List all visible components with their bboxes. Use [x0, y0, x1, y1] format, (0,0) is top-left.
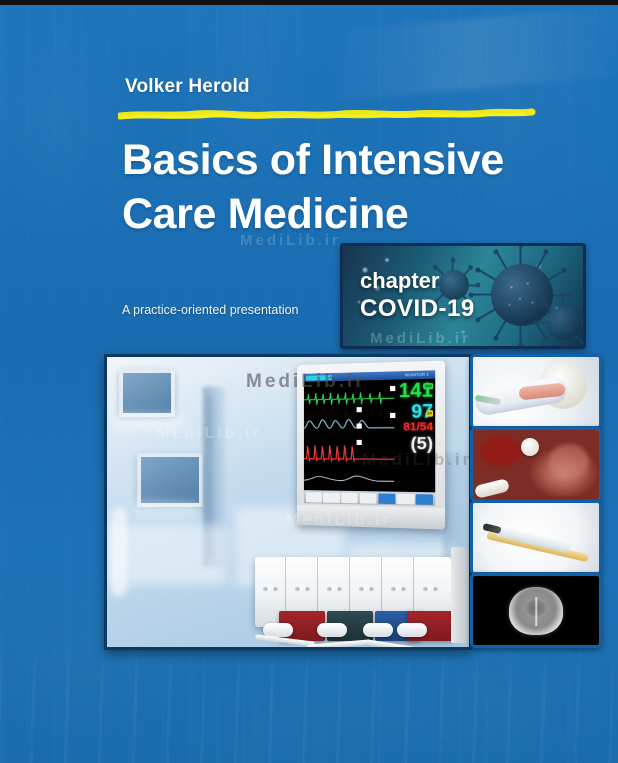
icu-room-photo: MONITOR 1	[104, 354, 472, 650]
monitor-waveforms	[304, 380, 394, 491]
thumbnail-endoscopic-airway-view	[470, 427, 602, 502]
thumbnail-image	[473, 430, 599, 499]
map-value: (5)	[390, 434, 433, 452]
pump-mounting-pole	[451, 547, 469, 643]
patient-monitor: MONITOR 1	[297, 361, 445, 530]
monitor-toolbar-button[interactable]	[397, 493, 414, 504]
top-black-bar	[0, 0, 618, 5]
yellow-brush-rule	[118, 108, 536, 121]
monitor-chip-lower: 20	[426, 410, 433, 416]
tissue-blob	[549, 444, 589, 478]
monitor-toolbar[interactable]	[304, 490, 435, 506]
monitor-alarm-marker	[357, 423, 362, 428]
syringe-plunger	[397, 623, 427, 637]
thumbnail-catheter-introducer-set	[470, 500, 602, 575]
monitor-toolbar-button[interactable]	[360, 493, 377, 504]
monitor-alarm-marker	[390, 386, 395, 391]
thumbnail-head-ct-scan	[470, 573, 602, 648]
iv-tubing	[367, 639, 425, 650]
pump-button-row[interactable]	[255, 587, 451, 597]
covid-badge-text: chapter COVID-19	[360, 268, 475, 324]
syringe-pump-stack	[255, 539, 469, 649]
endoscopic-tube	[474, 478, 510, 499]
tissue-blob	[479, 436, 523, 466]
monitor-header-segment	[306, 375, 332, 381]
monitor-toolbar-button[interactable]	[305, 492, 321, 502]
monitor-alarm-marker	[390, 413, 395, 418]
book-cover: Volker Herold Basics of Intensive Care M…	[0, 0, 618, 763]
blood-pressure-value: 81/54	[390, 422, 433, 434]
coronavirus-icon-corner	[547, 306, 581, 340]
endoscopic-instrument-tip	[521, 438, 539, 456]
virus-core	[547, 306, 581, 340]
title-line-2: Care Medicine	[122, 190, 408, 238]
monitor-alarm-marker	[357, 407, 362, 412]
monitor-toolbar-button[interactable]	[341, 492, 358, 503]
title-line-1: Basics of Intensive	[122, 136, 504, 184]
syringe-plunger	[317, 623, 347, 637]
background-bottom-streaks	[0, 640, 618, 763]
monitor-screen: MONITOR 1	[304, 370, 435, 506]
thumbnail-image	[473, 576, 599, 645]
covid-badge-line-1: chapter	[360, 268, 475, 294]
thumbnail-image	[473, 503, 599, 572]
thumbnail-airway-intubation-manikin	[470, 354, 602, 429]
monitor-chip-upper: 100	[424, 383, 433, 389]
photo-collage: MONITOR 1	[104, 354, 596, 644]
covid-chapter-badge: chapter COVID-19	[340, 243, 586, 349]
syringe-plunger	[363, 623, 393, 637]
thumbnail-image	[473, 357, 599, 426]
book-title: Basics of Intensive Care Medicine	[122, 133, 592, 241]
thumbnail-strip	[470, 354, 596, 644]
monitor-alarm-marker	[357, 440, 362, 445]
monitor-numeric-readouts: 141 97 81/54 (5)	[390, 381, 433, 454]
book-subtitle: A practice-oriented presentation	[122, 303, 299, 317]
ct-midline	[535, 597, 537, 626]
monitor-header-label: MONITOR 1	[405, 370, 429, 379]
monitor-toolbar-button-active[interactable]	[416, 494, 434, 505]
covid-badge-line-2: COVID-19	[360, 294, 475, 324]
author-name: Volker Herold	[125, 76, 250, 98]
monitor-toolbar-button[interactable]	[323, 492, 340, 502]
monitor-toolbar-button-active[interactable]	[378, 493, 395, 504]
